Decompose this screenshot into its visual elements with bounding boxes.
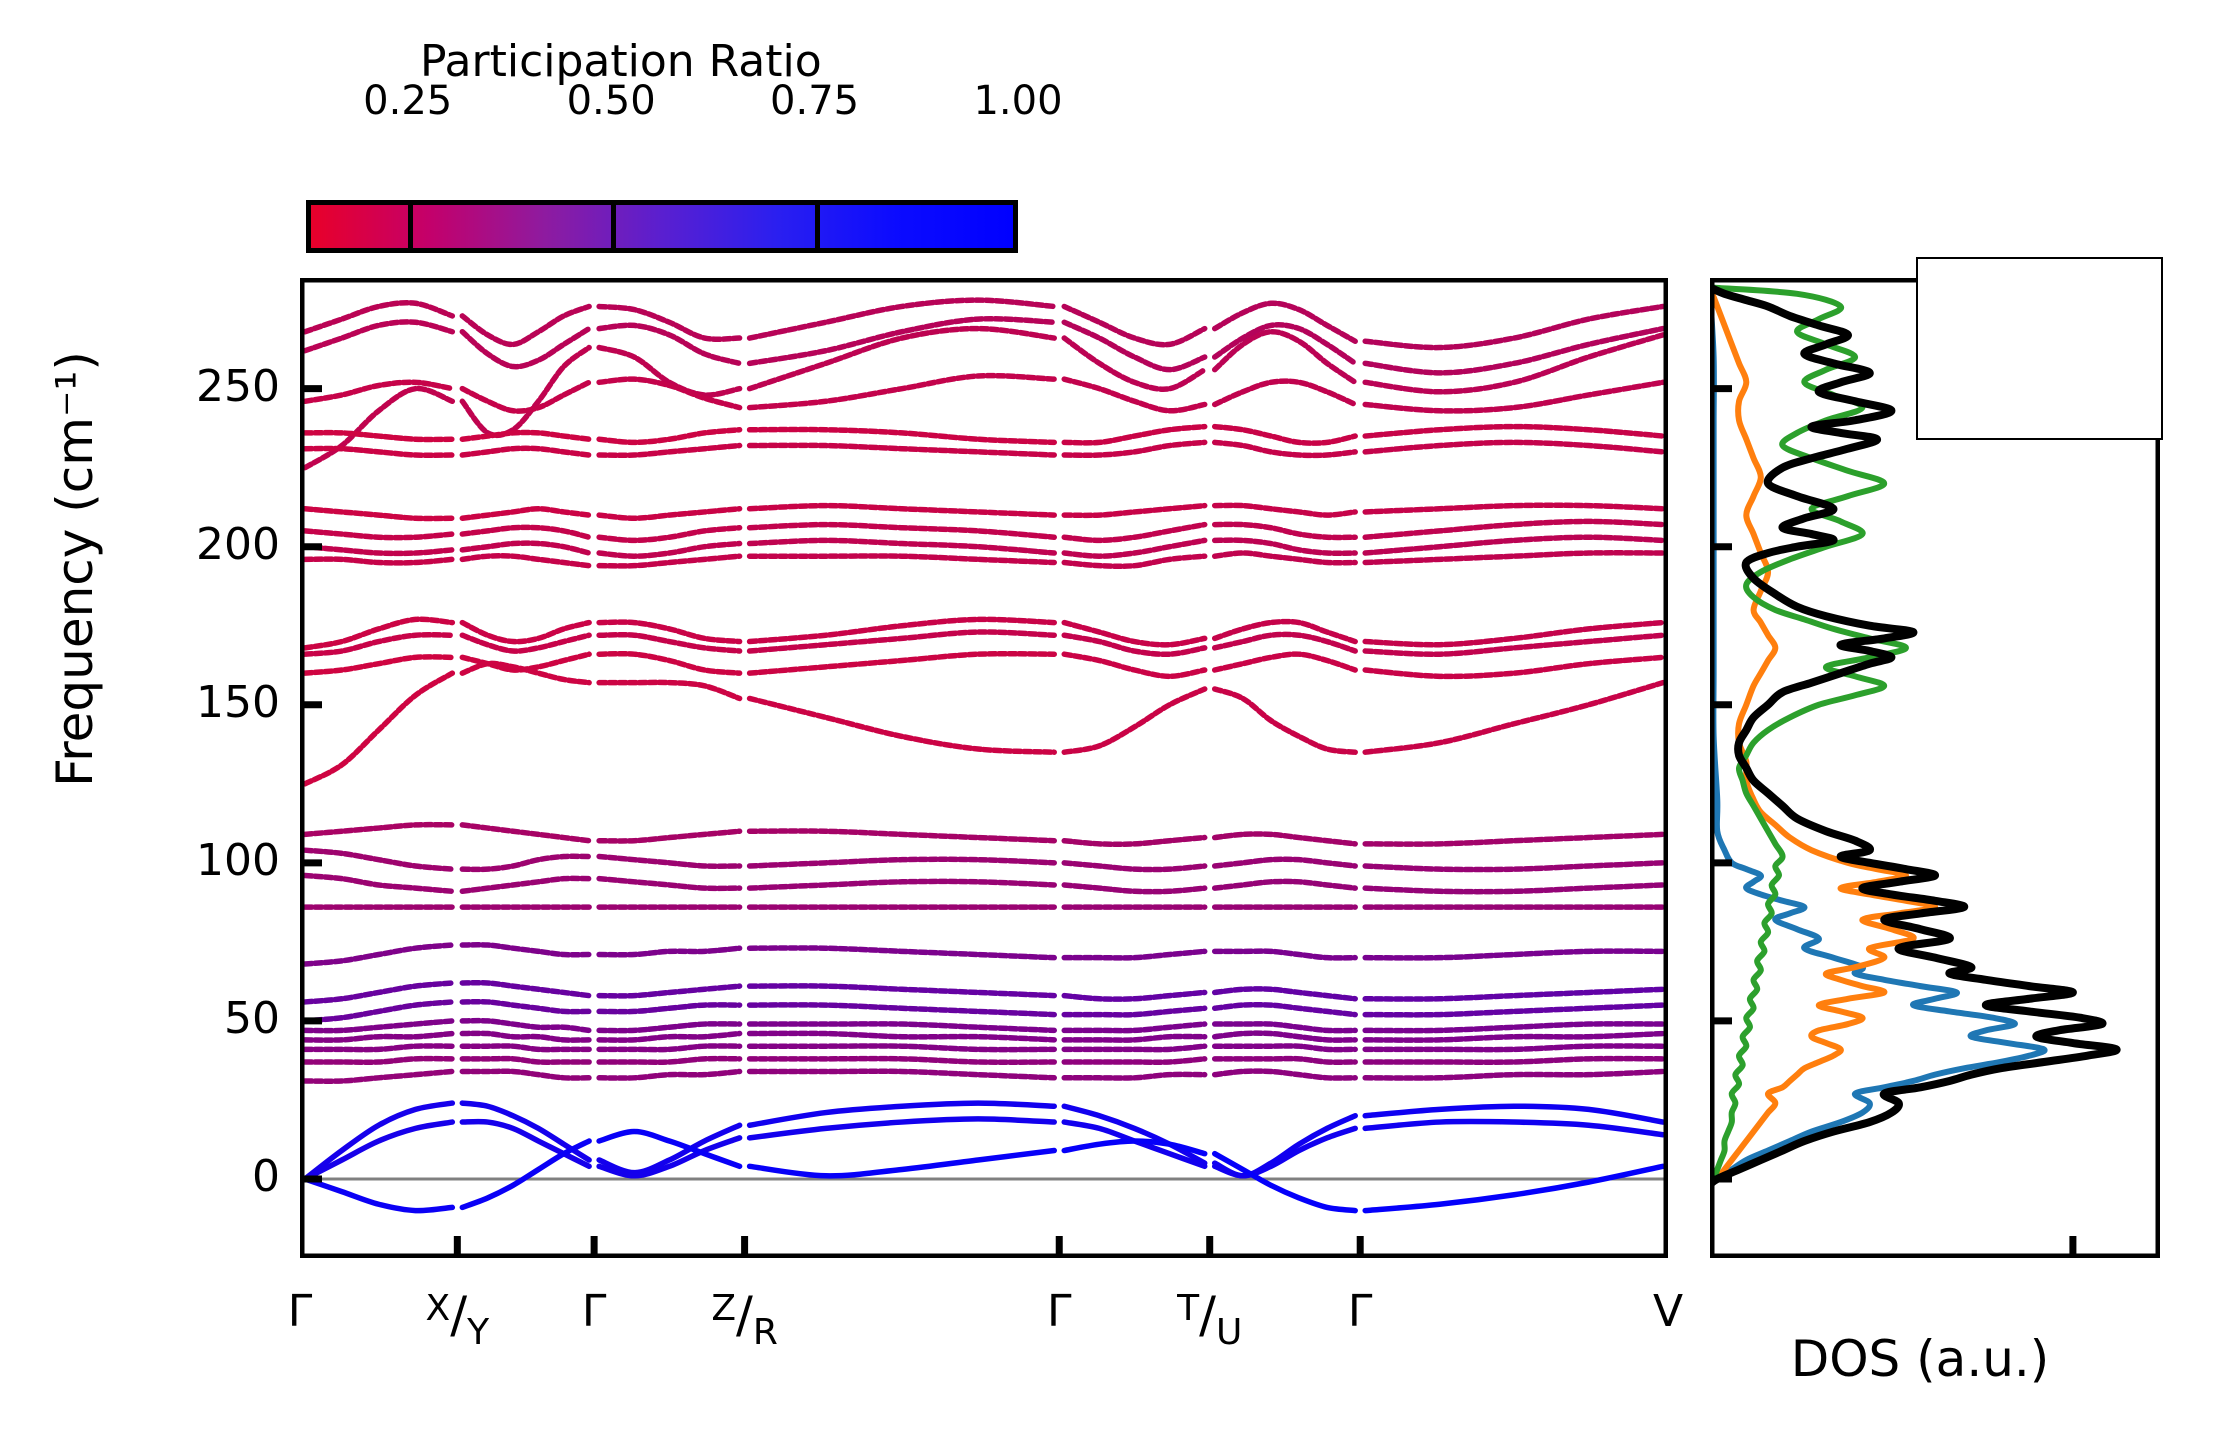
colorbar — [306, 200, 1018, 253]
kpath-tick-0: Γ — [210, 1286, 390, 1337]
frequency-axis-label: Frequency (cm⁻¹) — [46, 239, 104, 899]
frequency-tick-200: 200 — [120, 519, 280, 570]
frequency-tick-150: 150 — [120, 677, 280, 728]
colorbar-tick-mark — [408, 205, 413, 248]
figure-canvas: Participation Ratio 0.250.500.751.00 Fre… — [0, 0, 2222, 1455]
frequency-tick-100: 100 — [120, 835, 280, 886]
phonon-branch — [1064, 1059, 1204, 1062]
colorbar-tick-0.75: 0.75 — [760, 78, 870, 124]
dos-axis-label: DOS (a.u.) — [1700, 1330, 2140, 1388]
phonon-branch — [1064, 1046, 1204, 1049]
colorbar-tick-mark — [611, 205, 616, 248]
frequency-tick-0: 0 — [120, 1151, 280, 1202]
colorbar-tick-0.50: 0.50 — [556, 78, 666, 124]
phonon-band-structure-plot — [300, 278, 1668, 1258]
colorbar-tick-1.00: 1.00 — [963, 78, 1073, 124]
kpath-tick-6: Γ — [1270, 1286, 1450, 1337]
dos-legend — [1916, 257, 2163, 440]
colorbar-tick-mark — [815, 205, 820, 248]
colorbar-tick-0.25: 0.25 — [353, 78, 463, 124]
frequency-tick-50: 50 — [120, 993, 280, 1044]
kpath-tick-3: Z/R — [655, 1286, 835, 1344]
frequency-tick-250: 250 — [120, 361, 280, 412]
